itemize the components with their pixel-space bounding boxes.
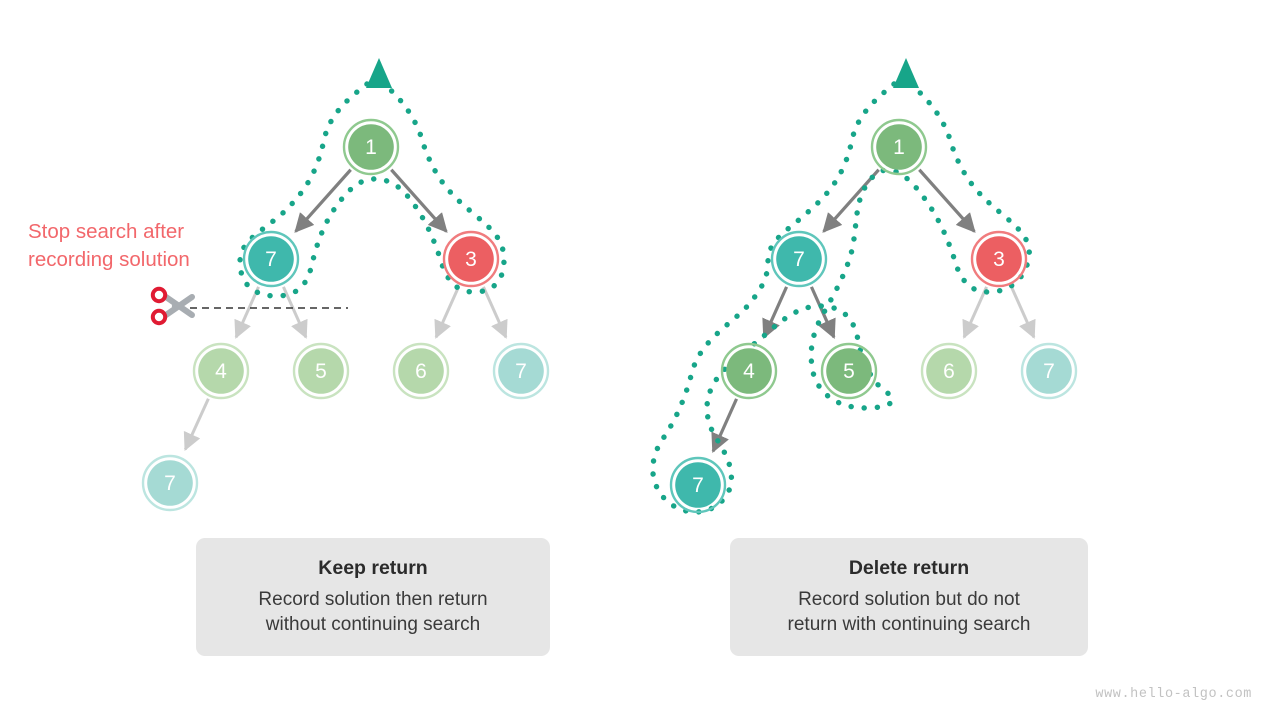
panel-delete-return: 17345677 (653, 58, 1076, 512)
node-value: 5 (843, 360, 855, 383)
caption-keep-return-body: Record solution then return without cont… (258, 587, 487, 638)
tree-node-delete-return-m4[interactable]: 4 (722, 344, 776, 398)
tree-node-delete-return-m3[interactable]: 3 (972, 232, 1026, 286)
edge-n4-to-n7c (185, 399, 208, 450)
node-value: 5 (315, 360, 327, 383)
tree-node-keep-return-n6[interactable]: 6 (394, 344, 448, 398)
edges-keep-return (185, 170, 506, 450)
tree-node-delete-return-m1[interactable]: 1 (872, 120, 926, 174)
edge-m4-to-m7c (713, 399, 736, 451)
node-value: 3 (993, 248, 1005, 271)
entry-marker-delete-return (893, 58, 919, 88)
tree-node-keep-return-n4[interactable]: 4 (194, 344, 248, 398)
edge-n3-to-n7b (483, 287, 505, 337)
tree-node-delete-return-m7c[interactable]: 7 (671, 458, 725, 512)
caption-delete-return-body: Record solution but do not return with c… (788, 587, 1031, 638)
caption-keep-return-title: Keep return (318, 557, 427, 580)
tree-node-delete-return-m6[interactable]: 6 (922, 344, 976, 398)
node-value: 7 (1043, 360, 1055, 383)
node-value: 7 (265, 248, 277, 271)
node-value: 3 (465, 248, 477, 271)
edge-n7a-to-n4 (236, 287, 258, 337)
tree-node-keep-return-n1[interactable]: 1 (344, 120, 398, 174)
nodes-keep-return: 17345677 (143, 120, 548, 510)
node-value: 7 (164, 472, 176, 495)
caption-delete-return-title: Delete return (849, 557, 969, 580)
node-value: 6 (415, 360, 427, 383)
node-value: 7 (692, 474, 704, 497)
node-value: 1 (365, 136, 377, 159)
edge-n3-to-n6 (436, 287, 458, 337)
node-value: 1 (893, 136, 905, 159)
edge-m3-to-m7b (1011, 287, 1033, 337)
tree-node-keep-return-n5[interactable]: 5 (294, 344, 348, 398)
tree-node-keep-return-n3[interactable]: 3 (444, 232, 498, 286)
traversal-path-delete-return (653, 84, 1029, 512)
binary-tree-pruning-diagram: 1734567717345677 (0, 0, 1280, 720)
tree-node-keep-return-n7c[interactable]: 7 (143, 456, 197, 510)
node-value: 6 (943, 360, 955, 383)
node-value: 4 (215, 360, 227, 383)
edge-m3-to-m6 (964, 287, 986, 337)
stop-search-annotation: Stop search after recording solution (28, 218, 190, 273)
scissors-handle-lower (153, 311, 165, 323)
panel-keep-return: 17345677 (143, 58, 548, 510)
caption-delete-return: Delete return Record solution but do not… (730, 538, 1088, 656)
node-value: 7 (793, 248, 805, 271)
node-value: 7 (515, 360, 527, 383)
tree-node-keep-return-n7b[interactable]: 7 (494, 344, 548, 398)
scissors-pivot (172, 304, 176, 308)
edge-n7a-to-n5 (283, 287, 305, 337)
tree-node-delete-return-m5[interactable]: 5 (822, 344, 876, 398)
edge-m1-to-m3 (919, 170, 974, 232)
tree-node-keep-return-n7a[interactable]: 7 (244, 232, 298, 286)
tree-node-delete-return-m7b[interactable]: 7 (1022, 344, 1076, 398)
scissors-handle-upper (153, 289, 165, 301)
edge-m1-to-m7a (824, 170, 879, 232)
edges-delete-return (713, 170, 1034, 451)
edge-m7a-to-m4 (764, 287, 786, 337)
caption-keep-return: Keep return Record solution then return … (196, 538, 550, 656)
tree-node-delete-return-m7a[interactable]: 7 (772, 232, 826, 286)
node-value: 4 (743, 360, 755, 383)
scissors-icon (153, 289, 192, 323)
edge-n1-to-n3 (391, 170, 446, 232)
site-watermark: www.hello-algo.com (1095, 687, 1252, 702)
entry-marker-keep-return (366, 58, 392, 88)
diagram-canvas: 1734567717345677 Stop search after recor… (0, 0, 1280, 720)
